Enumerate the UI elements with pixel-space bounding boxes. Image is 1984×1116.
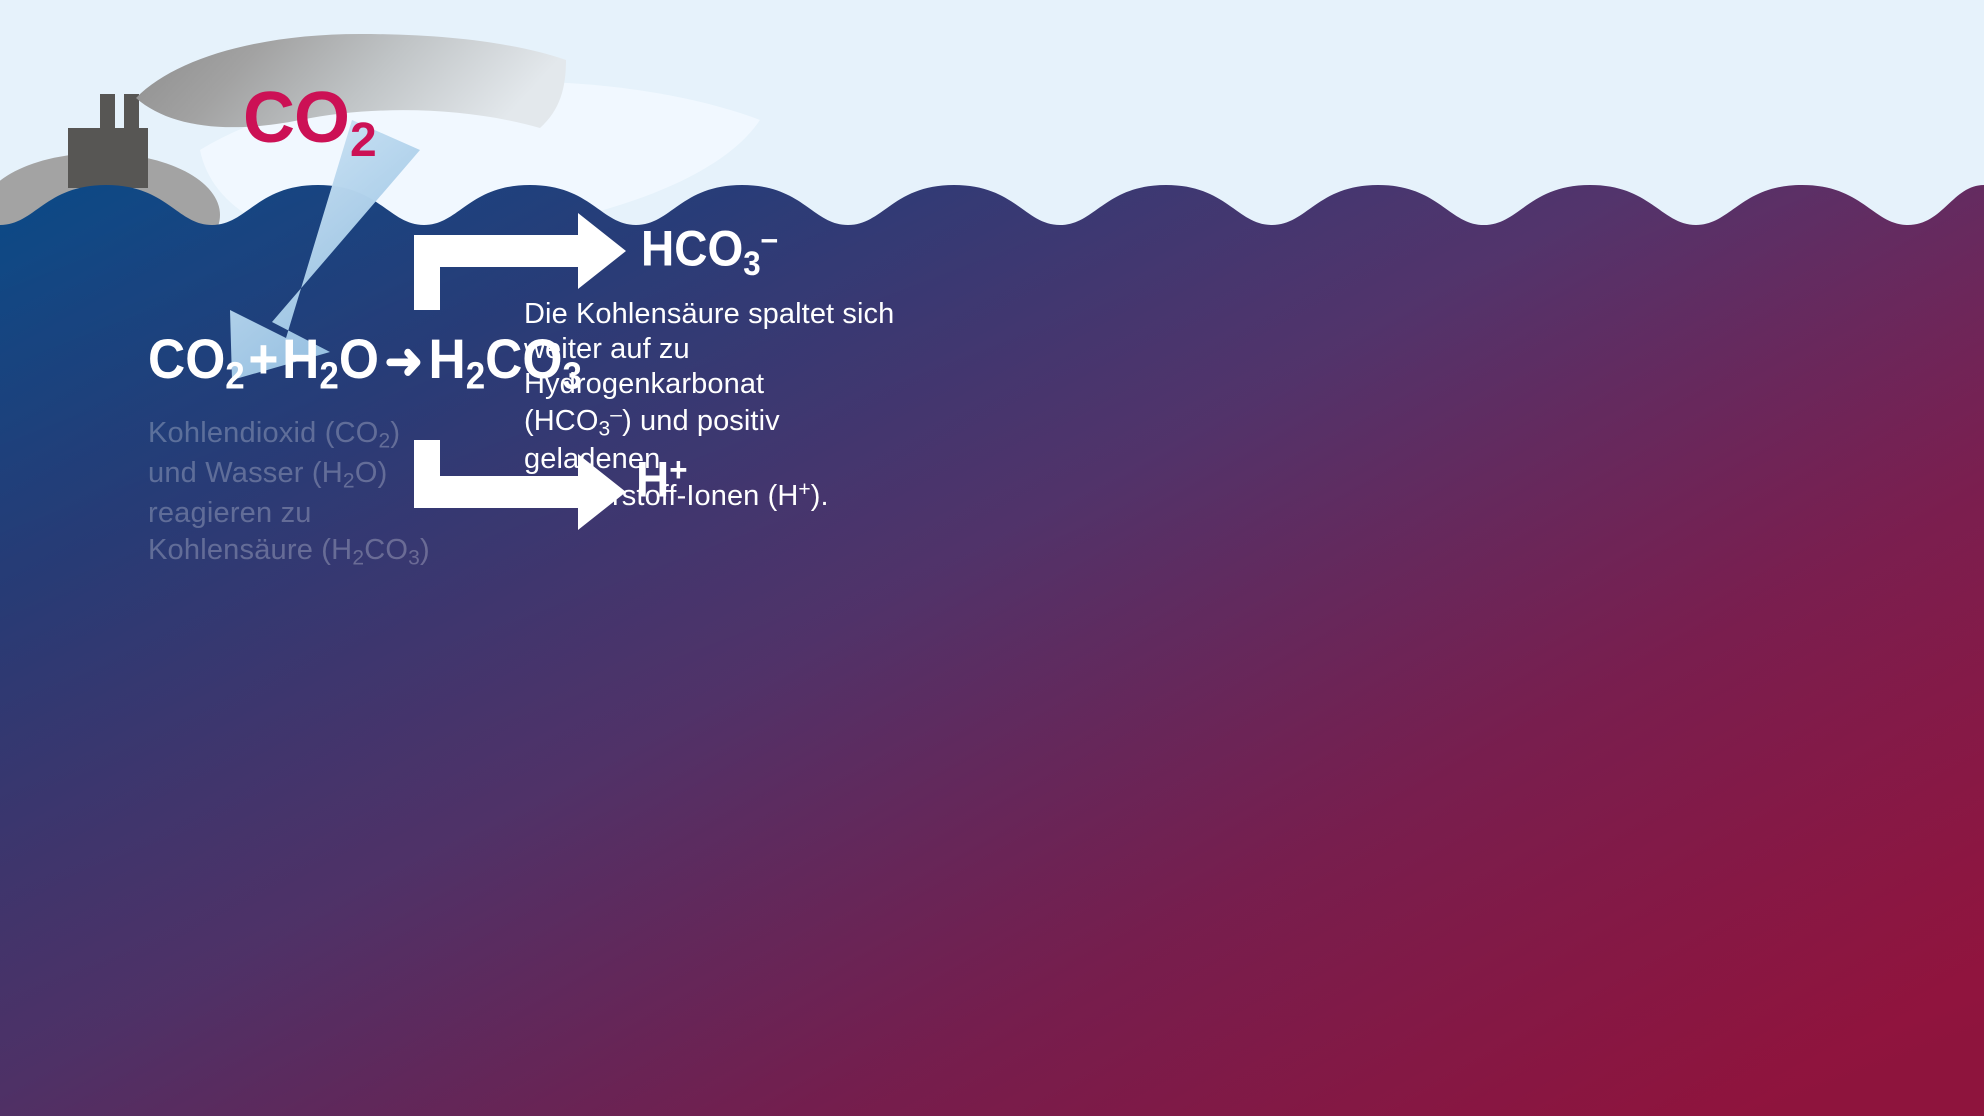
caption-right-line-4: Wasserstoff-Ionen (H+). xyxy=(524,477,924,514)
equation-h2o-o: O xyxy=(339,327,379,390)
caption-right-line-2: weiter auf zu Hydrogenkarbonat xyxy=(524,332,924,402)
co2-label: CO2 xyxy=(243,82,376,165)
infographic-canvas: CO2 CO2+H2O➜H2CO3 HCO3– H+ Kohlendioxid … xyxy=(0,0,1984,1116)
hco3-subscript: 3 xyxy=(743,245,760,283)
caption-left-line-3: reagieren zu xyxy=(148,495,478,533)
reaction-arrow-icon: ➜ xyxy=(379,333,429,389)
equation-h2co3-h: H xyxy=(429,327,466,390)
co2-label-base: CO xyxy=(243,78,349,158)
caption-right-line-3: (HCO3–) und positiv geladenen xyxy=(524,402,924,477)
equation-h2o-h: H xyxy=(282,327,319,390)
caption-right-line-1: Die Kohlensäure spaltet sich xyxy=(524,297,924,332)
equation-h2o-sub: 2 xyxy=(319,356,338,398)
equation-h2co3-sub1: 2 xyxy=(466,356,485,398)
hco3-charge: – xyxy=(761,220,778,258)
main-equation: CO2+H2O➜H2CO3 xyxy=(148,331,582,396)
caption-right: Die Kohlensäure spaltet sich weiter auf … xyxy=(524,297,924,514)
equation-co2-sub: 2 xyxy=(225,356,244,398)
hco3-base: HCO xyxy=(641,220,743,276)
caption-left-line-2: und Wasser (H2O) xyxy=(148,455,478,495)
product-hydrogencarbonate: HCO3– xyxy=(641,222,778,281)
equation-plus: + xyxy=(245,327,282,390)
caption-left: Kohlendioxid (CO2) und Wasser (H2O) reag… xyxy=(148,415,478,572)
ocean-water xyxy=(0,180,1984,1116)
co2-label-subscript: 2 xyxy=(350,114,376,167)
equation-co2: CO xyxy=(148,327,225,390)
caption-left-line-1: Kohlendioxid (CO2) xyxy=(148,415,478,455)
caption-left-line-4: Kohlensäure (H2CO3) xyxy=(148,532,478,572)
